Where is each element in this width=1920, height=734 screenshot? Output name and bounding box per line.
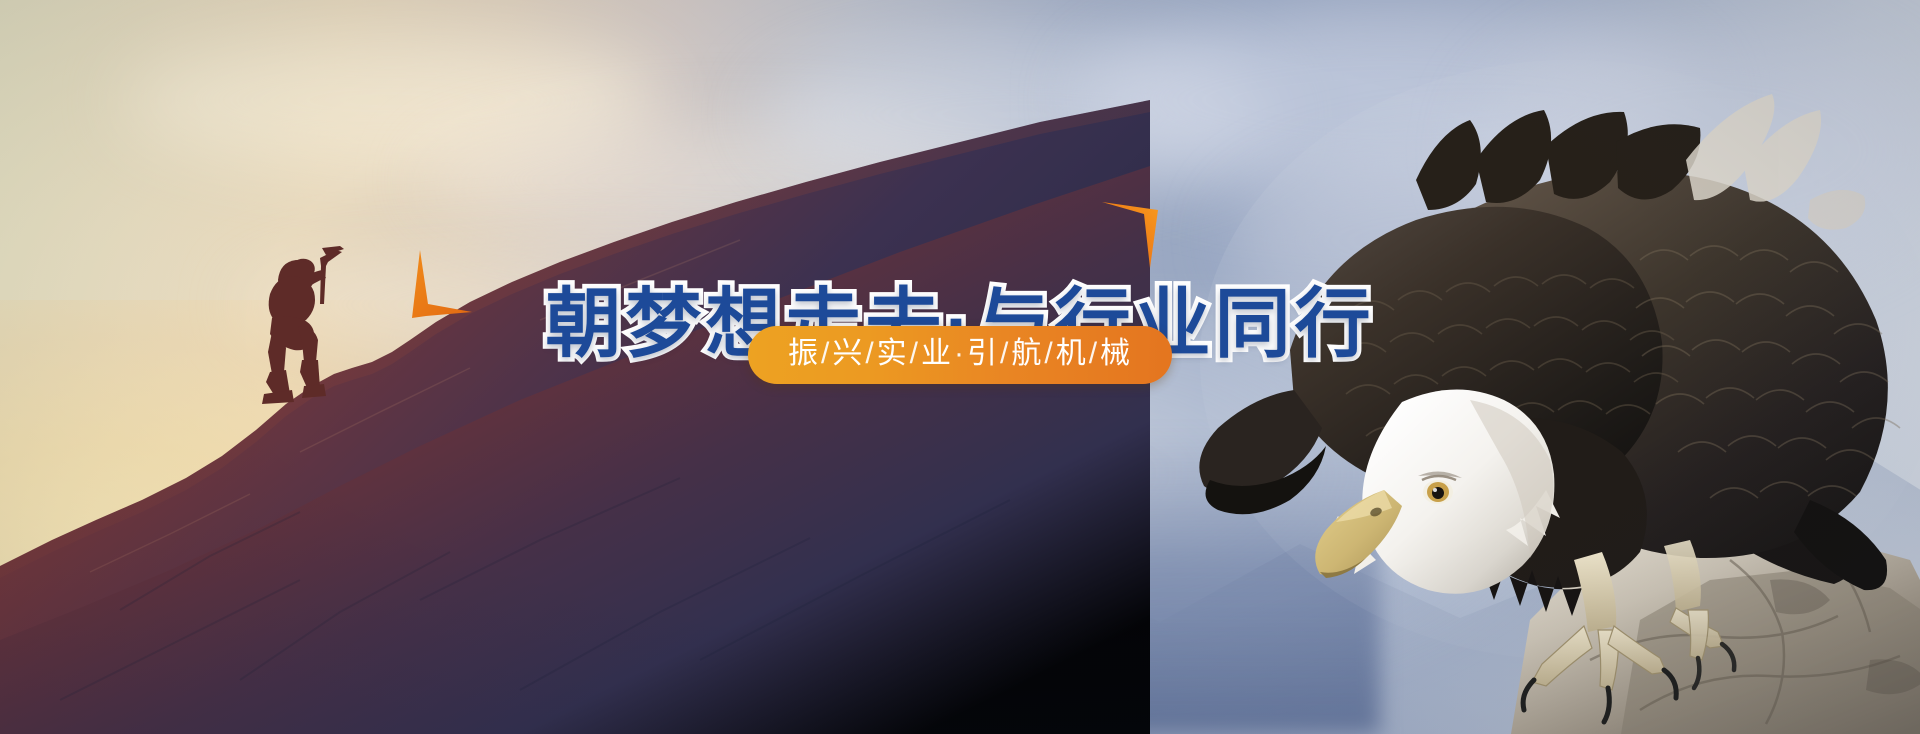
tagline-char-1: 振 xyxy=(788,337,820,370)
tagline-middot: · xyxy=(953,337,967,370)
tagline-separator: / xyxy=(820,337,832,370)
tagline-char-4: 业 xyxy=(921,337,953,370)
tagline-badge[interactable]: 振/兴/实/业·引/航/机/械 xyxy=(748,326,1172,384)
tagline-char-6: 航 xyxy=(1011,337,1043,370)
tagline-separator: / xyxy=(1088,337,1100,370)
hero-banner: 朝梦想走去·与行业同行 振/兴/实/业·引/航/机/械 xyxy=(0,0,1920,734)
tagline-separator: / xyxy=(864,337,876,370)
tagline-char-7: 机 xyxy=(1056,337,1088,370)
tagline-separator: / xyxy=(909,337,921,370)
tagline-char-8: 械 xyxy=(1100,337,1132,370)
tagline-pill-wrapper: 振/兴/实/业·引/航/机/械 xyxy=(748,326,1172,384)
tagline-char-2: 兴 xyxy=(832,337,864,370)
tagline-separator: / xyxy=(999,337,1011,370)
tagline-separator: / xyxy=(1043,337,1055,370)
tagline-char-5: 引 xyxy=(967,337,999,370)
tagline-char-3: 实 xyxy=(877,337,909,370)
